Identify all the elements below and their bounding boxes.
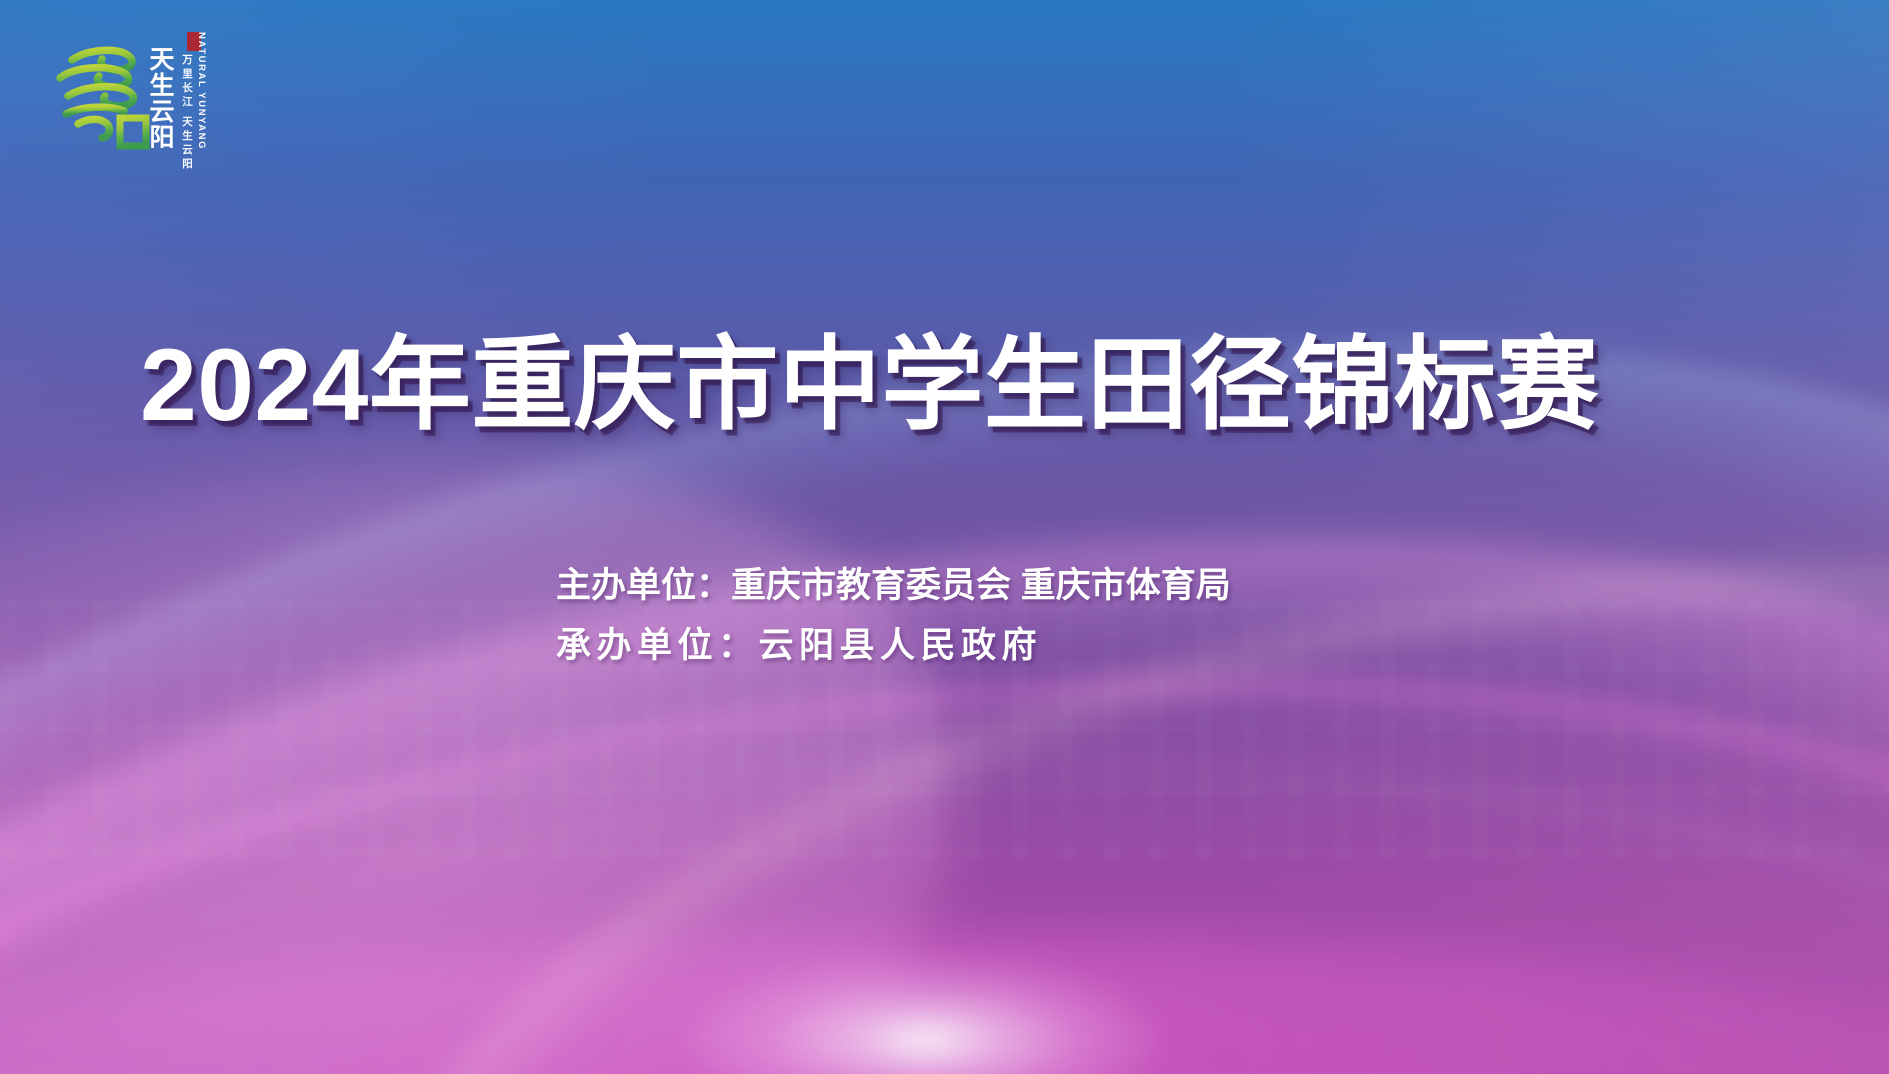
svg-text:天: 天 bbox=[149, 47, 174, 74]
logo-vertical-chinese-text: 万里长江 天生云阳 bbox=[180, 54, 195, 172]
poster-main-title: 2024年重庆市中学生田径锦标赛 bbox=[140, 328, 1780, 442]
yunyang-logo: 天 生 云 阳 NATURAL YUNYANG 万里长江 天生云阳 bbox=[42, 26, 210, 150]
organizer-line: 主办单位：重庆市教育委员会 重庆市体育局 bbox=[556, 556, 1231, 616]
logo-vertical-english-text: NATURAL YUNYANG bbox=[196, 32, 207, 150]
poster-subtitle-block: 主办单位：重庆市教育委员会 重庆市体育局 承办单位：云阳县人民政府 bbox=[556, 556, 1231, 676]
poster-canvas: 天 生 云 阳 NATURAL YUNYANG 万里长江 天生云阳 2024年重… bbox=[0, 0, 1889, 1074]
host-line: 承办单位：云阳县人民政府 bbox=[556, 616, 1231, 676]
svg-text:阳: 阳 bbox=[149, 124, 174, 148]
svg-text:云: 云 bbox=[149, 99, 174, 126]
svg-text:生: 生 bbox=[149, 72, 174, 100]
